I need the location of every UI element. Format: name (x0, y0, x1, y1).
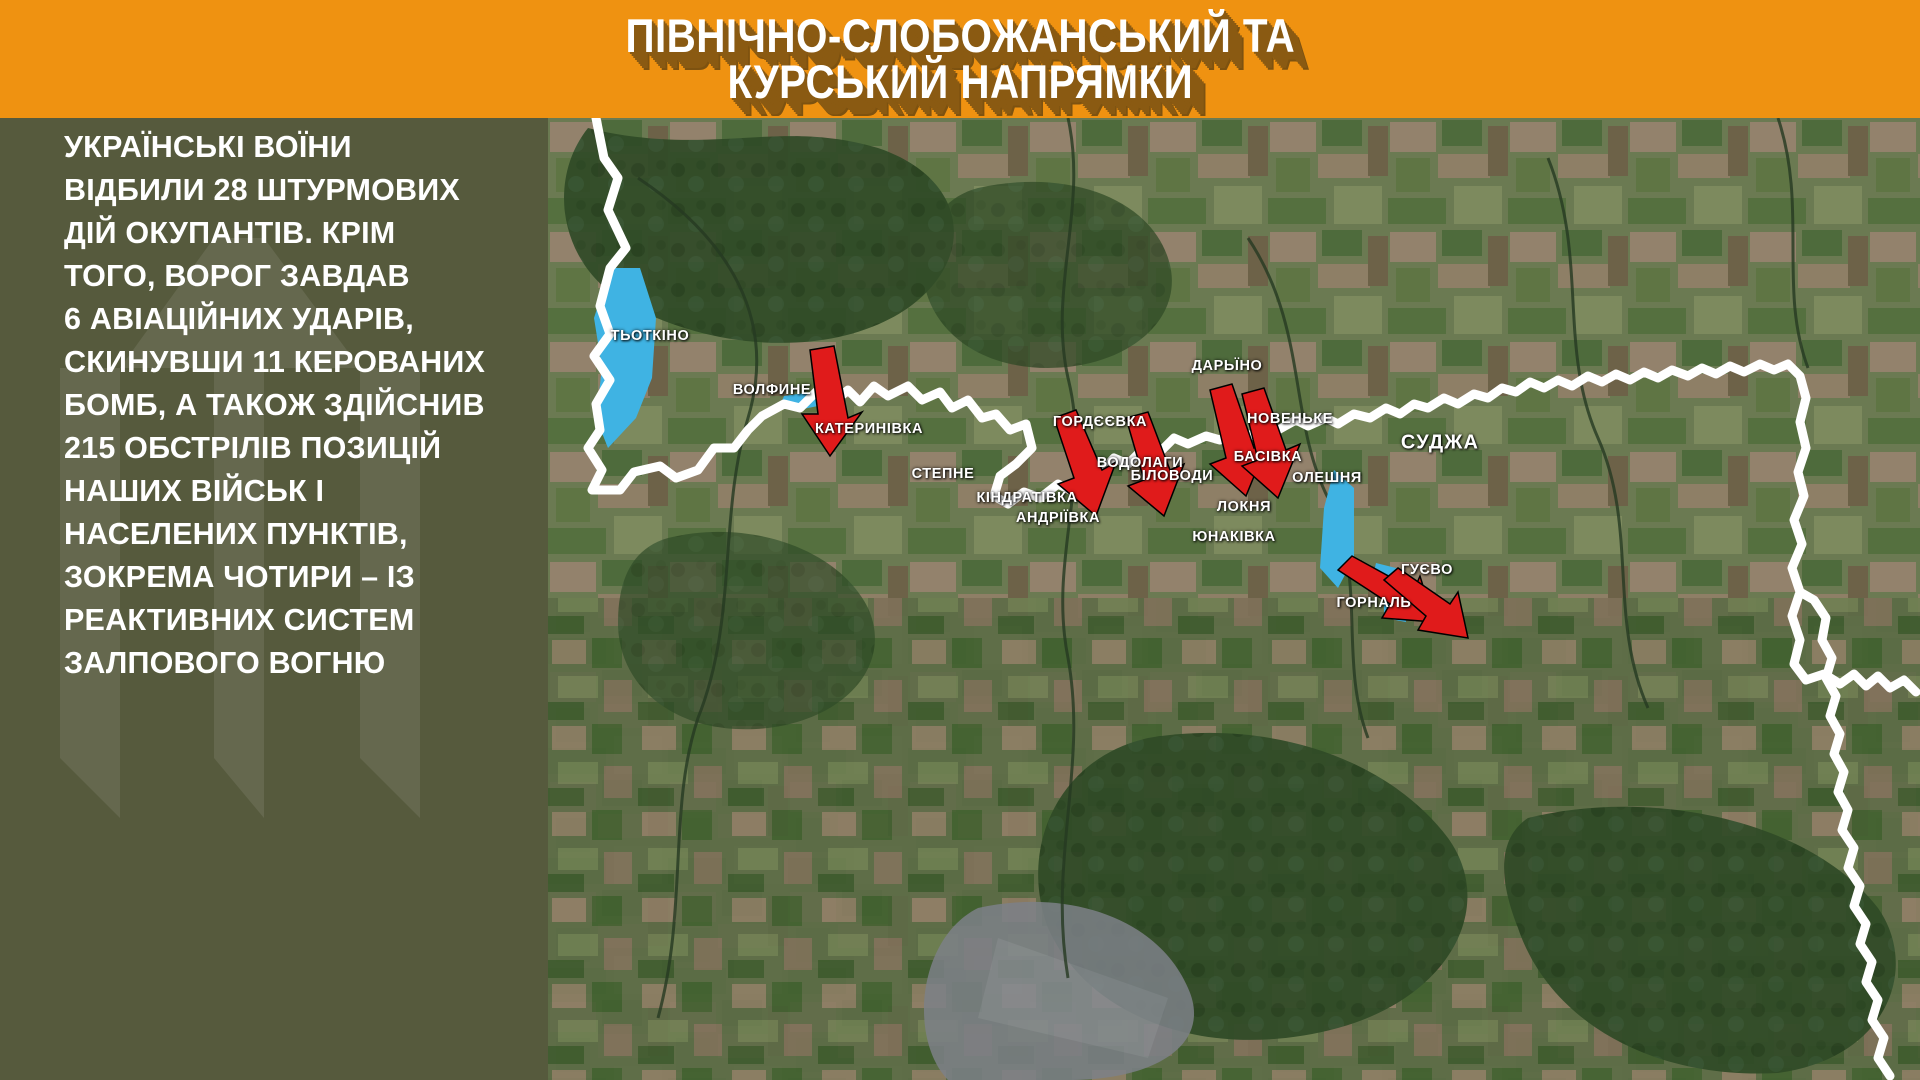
header-banner: ПІВНІЧНО-СЛОБОЖАНСЬКИЙ ТА КУРСЬКИЙ НАПРЯ… (0, 0, 1920, 118)
frontline-overlay (548, 118, 1920, 1080)
map-area[interactable]: ТЬОТКІНО ВОЛФИНЕ КАТЕРИНІВКА СТЕПНЕ КІНД… (548, 118, 1920, 1080)
summary-text: УКРАЇНСЬКІ ВОЇНИ ВІДБИЛИ 28 ШТУРМОВИХ ДІ… (0, 118, 548, 685)
border-branch-southeast (1800, 592, 1890, 1076)
infographic-root: ПІВНІЧНО-СЛОБОЖАНСЬКИЙ ТА КУРСЬКИЙ НАПРЯ… (0, 0, 1920, 1080)
arrow-bilovody (1126, 412, 1184, 516)
summary-panel: УКРАЇНСЬКІ ВОЇНИ ВІДБИЛИ 28 ШТУРМОВИХ ДІ… (0, 118, 548, 1080)
page-title: ПІВНІЧНО-СЛОБОЖАНСЬКИЙ ТА КУРСЬКИЙ НАПРЯ… (625, 13, 1295, 105)
